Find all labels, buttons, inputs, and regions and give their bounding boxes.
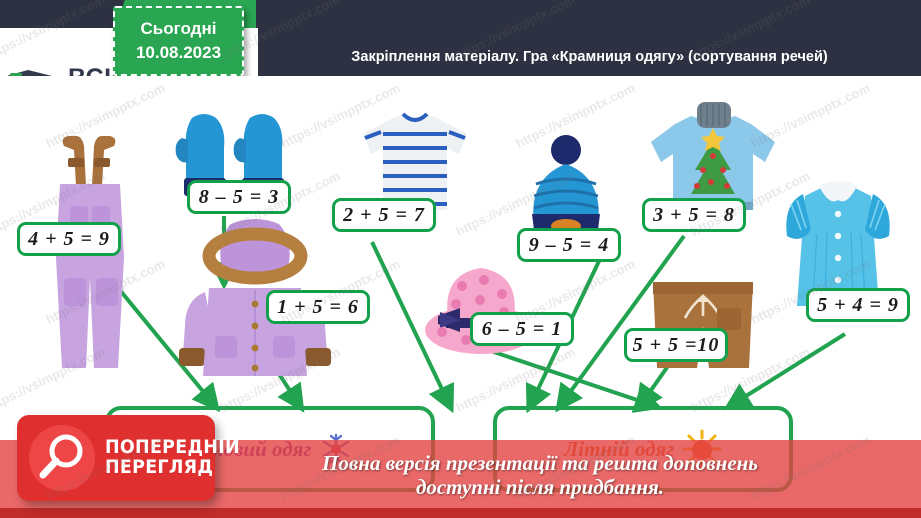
slide-title: Закріплення матеріалу. Гра «Крамниця одя… bbox=[351, 49, 827, 65]
overlay-line-2: доступні після придбання. bbox=[160, 476, 920, 500]
clothing-winter-hat[interactable] bbox=[518, 134, 614, 239]
equation-dress[interactable]: 5 + 4 = 9 bbox=[806, 288, 910, 322]
preview-red-footer bbox=[0, 508, 921, 518]
preview-badge-line-2: ПЕРЕГЛЯД bbox=[105, 458, 240, 478]
slide-root: ВСІМ pptx Сьогодні 10.08.2023 Закріпленн… bbox=[0, 0, 921, 518]
equation-sun-hat[interactable]: 6 – 5 = 1 bbox=[470, 312, 574, 346]
overlay-line-1: Повна версія презентації та решта доповн… bbox=[160, 452, 920, 476]
date-label: Сьогодні bbox=[141, 19, 217, 39]
equation-mittens[interactable]: 8 – 5 = 3 bbox=[187, 180, 291, 214]
equation-sweater[interactable]: 3 + 5 = 8 bbox=[642, 198, 746, 232]
magnifier-icon bbox=[29, 425, 95, 491]
slide-title-bar: Закріплення матеріалу. Гра «Крамниця одя… bbox=[258, 38, 921, 76]
equation-overalls[interactable]: 4 + 5 = 9 bbox=[17, 222, 121, 256]
equation-jacket[interactable]: 1 + 5 = 6 bbox=[266, 290, 370, 324]
date-value: 10.08.2023 bbox=[136, 43, 221, 63]
equation-winter-hat[interactable]: 9 – 5 = 4 bbox=[517, 228, 621, 262]
equation-tshirt[interactable]: 2 + 5 = 7 bbox=[332, 198, 436, 232]
equation-shorts[interactable]: 5 + 5 =10 bbox=[624, 328, 728, 362]
date-badge: Сьогодні 10.08.2023 bbox=[113, 6, 244, 76]
preview-overlay-message: Повна версія презентації та решта доповн… bbox=[160, 452, 920, 499]
preview-badge[interactable]: ПОПЕРЕДНІЙ ПЕРЕГЛЯД bbox=[17, 415, 215, 501]
